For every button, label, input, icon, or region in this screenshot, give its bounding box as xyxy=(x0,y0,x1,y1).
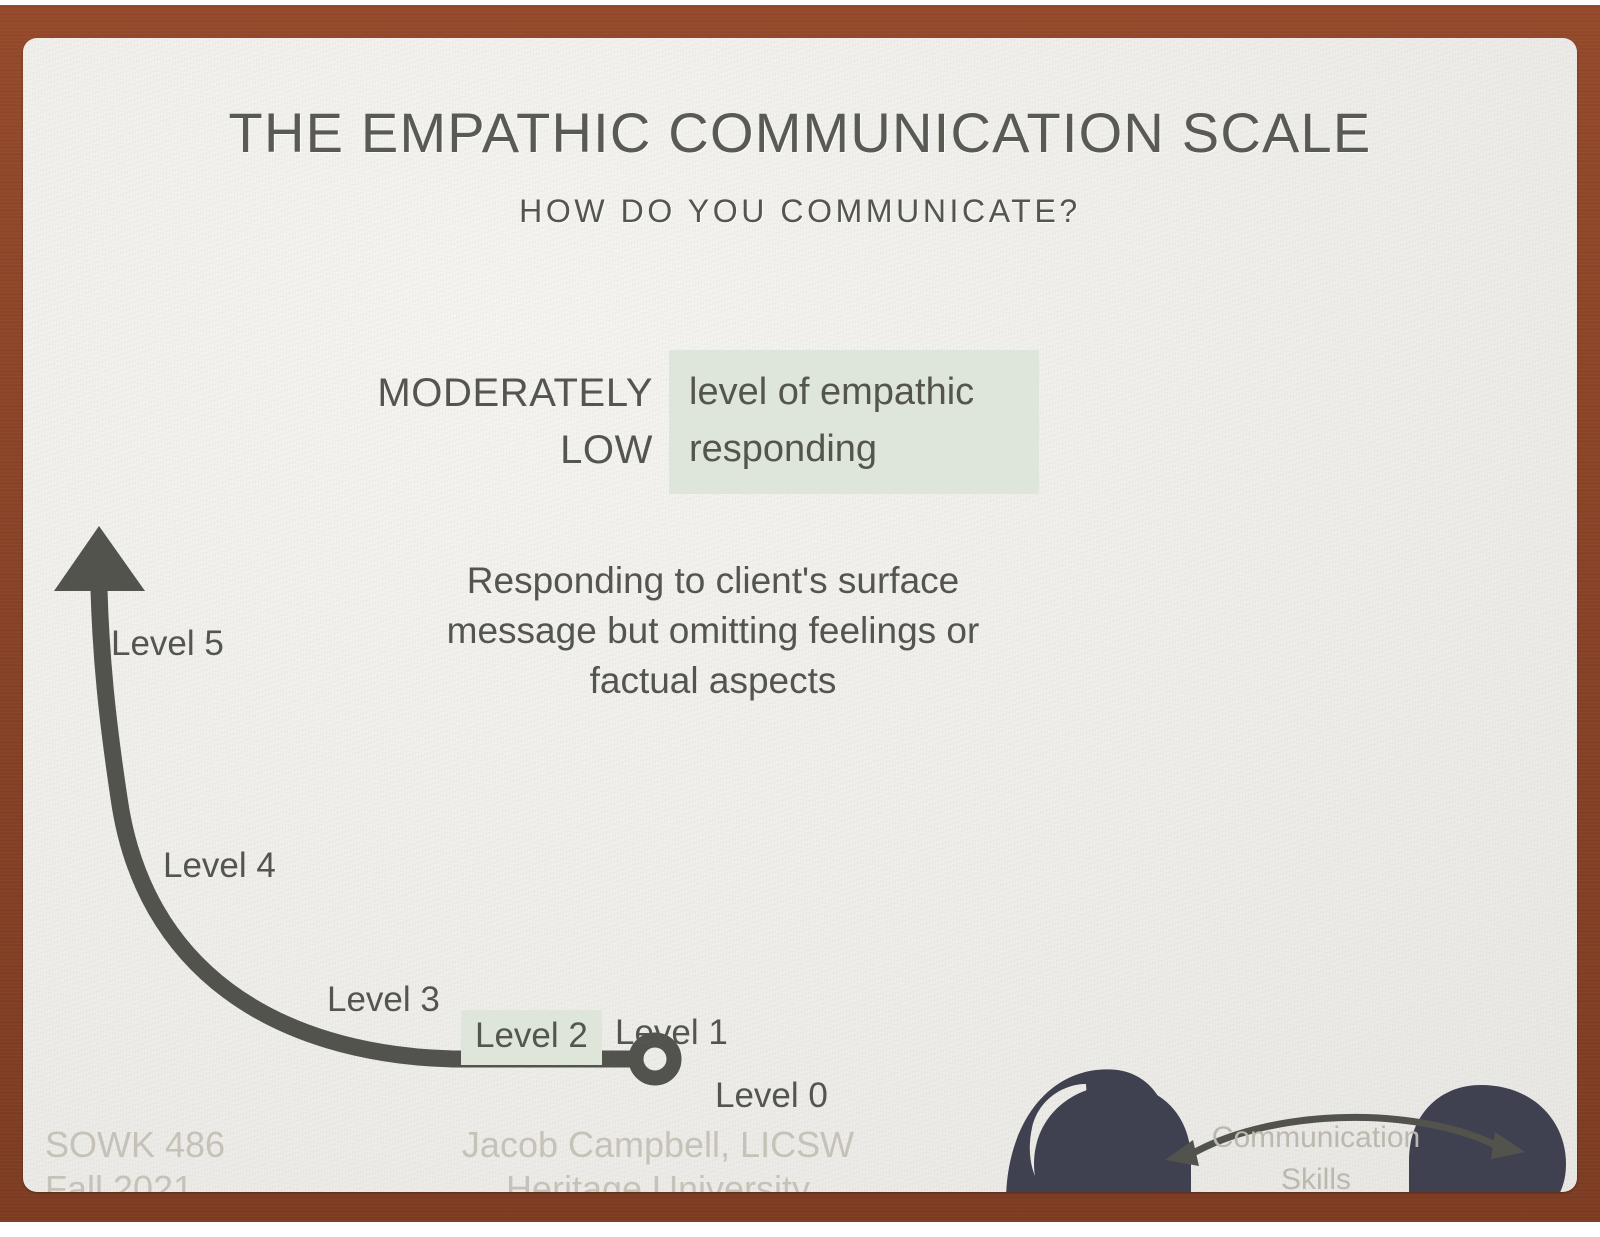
slide-paper-panel: THE EMPATHIC COMMUNICATION SCALE HOW DO … xyxy=(23,38,1577,1192)
communication-skills-caption: Communication Skills xyxy=(1171,1117,1461,1192)
head-silhouette-left-shape xyxy=(1034,1085,1191,1192)
communication-skills-illustration xyxy=(23,38,1577,1192)
slide-canvas: THE EMPATHIC COMMUNICATION SCALE HOW DO … xyxy=(0,0,1600,1237)
